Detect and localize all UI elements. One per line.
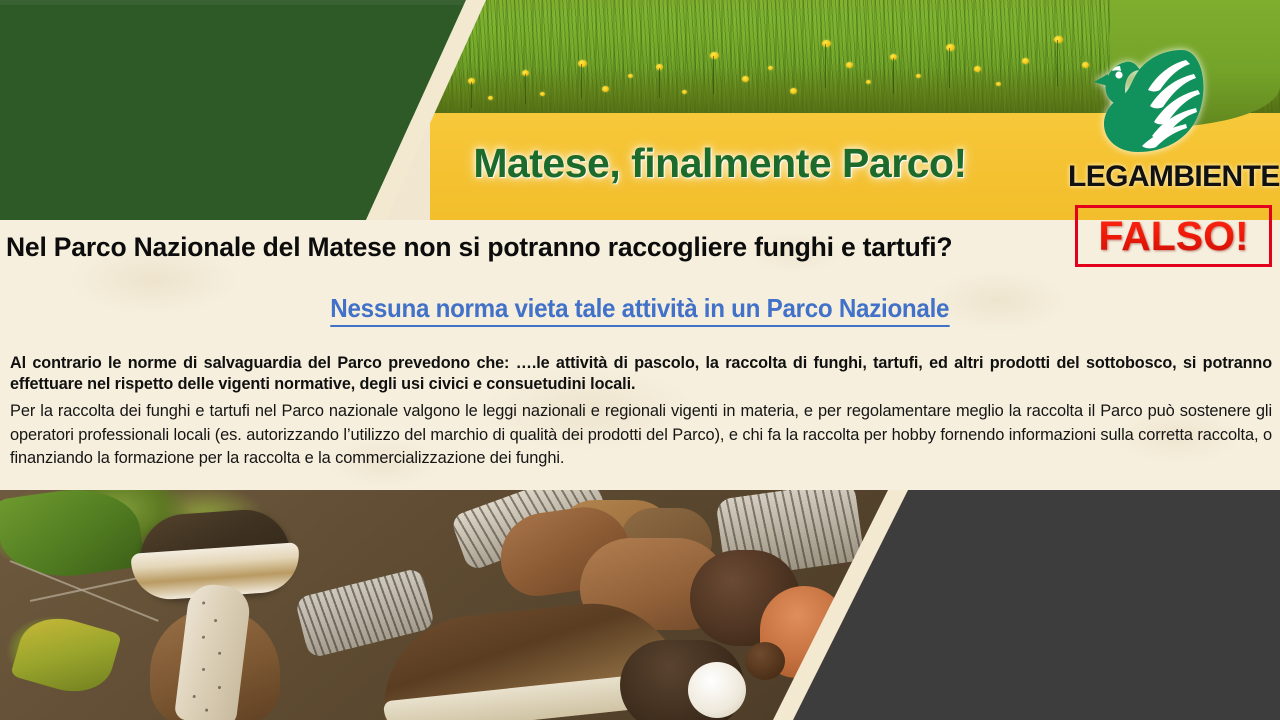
mushroom-photo-content xyxy=(0,490,920,720)
paragraph-bold: Al contrario le norme di salvaguardia de… xyxy=(10,353,1272,395)
legambiente-wordmark: LEGAMBIENTE xyxy=(1068,160,1278,194)
small-brown-mushroom xyxy=(745,642,785,680)
banner-title: Matese, finalmente Parco! xyxy=(425,140,1015,187)
legambiente-swan-icon xyxy=(1090,42,1210,157)
paragraph-normal: Per la raccolta dei funghi e tartufi nel… xyxy=(10,400,1272,471)
green-leaf xyxy=(0,490,145,585)
yellow-leaf xyxy=(10,608,122,702)
legambiente-logo: LEGAMBIENTE xyxy=(1090,42,1280,202)
subheadline-link[interactable]: Nessuna norma vieta tale attività in un … xyxy=(331,293,950,327)
subheadline-wrap: Nessuna norma vieta tale attività in un … xyxy=(0,293,1280,327)
poster-root: Matese, finalmente Parco! xyxy=(0,0,1280,720)
falso-label: FALSO! xyxy=(1098,213,1248,260)
green-left-panel xyxy=(0,0,480,220)
white-mushroom xyxy=(688,662,746,718)
falso-badge: FALSO! xyxy=(1075,205,1272,267)
page-headline: Nel Parco Nazionale del Matese non si po… xyxy=(6,232,1074,263)
banner-header: Matese, finalmente Parco! xyxy=(0,0,1280,220)
footer-area xyxy=(0,490,1280,720)
mushroom-photo xyxy=(0,490,920,720)
